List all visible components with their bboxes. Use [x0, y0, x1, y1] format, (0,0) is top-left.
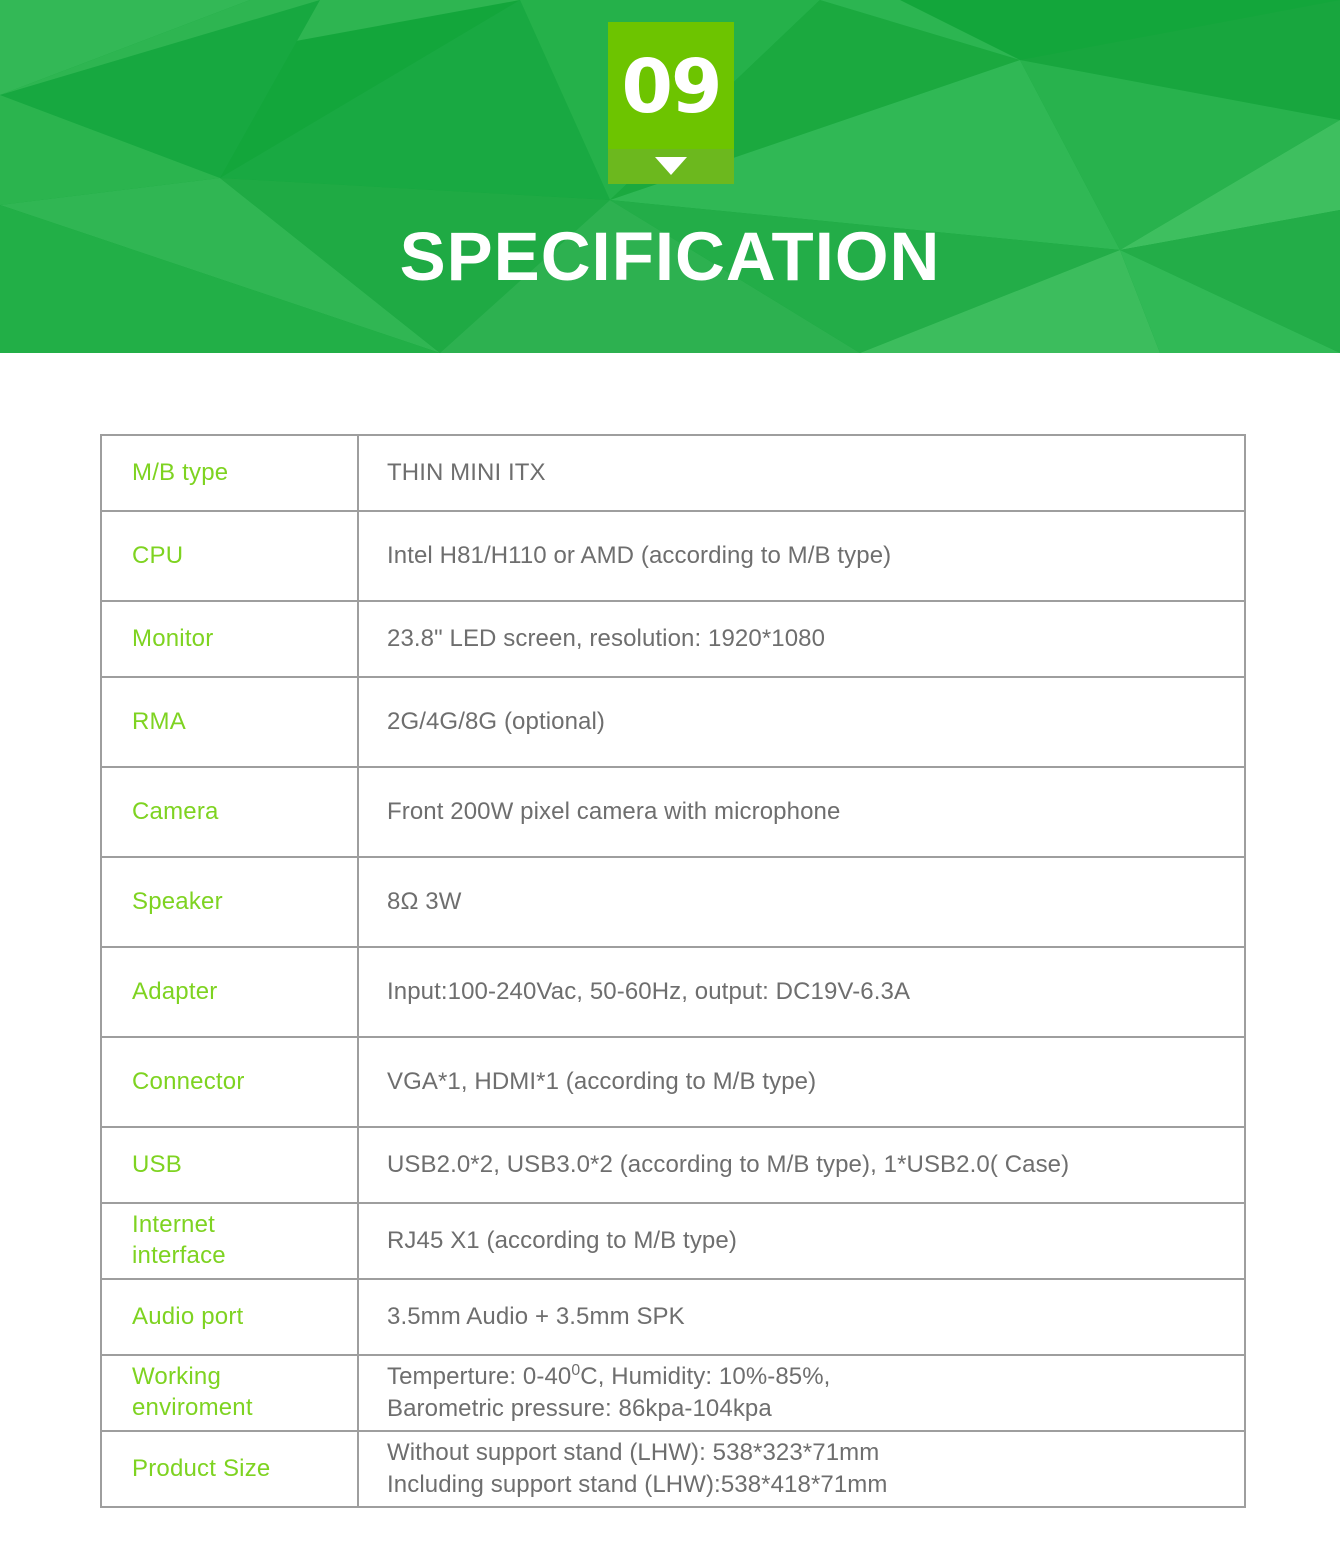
value-line: Input:100-240Vac, 50-60Hz, output: DC19V… [387, 976, 1234, 1008]
table-row: Internet interface RJ45 X1 (according to… [101, 1203, 1245, 1279]
table-row: RMA 2G/4G/8G (optional) [101, 677, 1245, 767]
spec-label-speaker: Speaker [101, 857, 358, 947]
spec-value-camera: Front 200W pixel camera with microphone [358, 767, 1245, 857]
spec-label-cpu: CPU [101, 511, 358, 601]
spec-label-working-enviroment: Working enviroment [101, 1355, 358, 1431]
value-line: Without support stand (LHW): 538*323*71m… [387, 1437, 1234, 1469]
value-line: Intel H81/H110 or AMD (according to M/B … [387, 540, 1234, 572]
page-title: SPECIFICATION [0, 222, 1340, 291]
table-row: Monitor 23.8" LED screen, resolution: 19… [101, 601, 1245, 677]
value-line: VGA*1, HDMI*1 (according to M/B type) [387, 1066, 1234, 1098]
spec-value-mb-type: THIN MINI ITX [358, 435, 1245, 511]
table-row: Audio port 3.5mm Audio + 3.5mm SPK [101, 1279, 1245, 1355]
spec-value-working-enviroment: Temperture: 0-400C, Humidity: 10%-85%, B… [358, 1355, 1245, 1431]
spec-label-connector: Connector [101, 1037, 358, 1127]
section-number-badge: 09 [608, 22, 734, 184]
table-row: CPU Intel H81/H110 or AMD (according to … [101, 511, 1245, 601]
triangle-down-icon [655, 157, 687, 175]
value-line: Front 200W pixel camera with microphone [387, 796, 1234, 828]
value-line: Barometric pressure: 86kpa-104kpa [387, 1393, 1234, 1425]
badge-arrow-block [608, 149, 734, 184]
badge-number-block: 09 [608, 22, 734, 149]
value-line: 3.5mm Audio + 3.5mm SPK [387, 1301, 1234, 1333]
value-line: 2G/4G/8G (optional) [387, 706, 1234, 738]
spec-label-audio-port: Audio port [101, 1279, 358, 1355]
spec-value-speaker: 8Ω 3W [358, 857, 1245, 947]
spec-value-rma: 2G/4G/8G (optional) [358, 677, 1245, 767]
specification-table-body: M/B type THIN MINI ITX CPU Intel H81/H11… [101, 435, 1245, 1507]
spec-label-monitor: Monitor [101, 601, 358, 677]
spec-value-product-size: Without support stand (LHW): 538*323*71m… [358, 1431, 1245, 1507]
spec-value-connector: VGA*1, HDMI*1 (according to M/B type) [358, 1037, 1245, 1127]
spec-label-rma: RMA [101, 677, 358, 767]
label-line: interface [132, 1241, 357, 1272]
value-line-temperature: Temperture: 0-400C, Humidity: 10%-85%, [387, 1361, 1234, 1393]
section-number: 09 [622, 50, 721, 124]
degree-superscript: 0 [571, 1362, 580, 1379]
spec-label-mb-type: M/B type [101, 435, 358, 511]
table-row: Working enviroment Temperture: 0-400C, H… [101, 1355, 1245, 1431]
value-line: RJ45 X1 (according to M/B type) [387, 1225, 1234, 1257]
value-line: 23.8" LED screen, resolution: 1920*1080 [387, 623, 1234, 655]
spec-value-usb: USB2.0*2, USB3.0*2 (according to M/B typ… [358, 1127, 1245, 1203]
spec-label-internet-interface: Internet interface [101, 1203, 358, 1279]
spec-label-usb: USB [101, 1127, 358, 1203]
spec-value-audio-port: 3.5mm Audio + 3.5mm SPK [358, 1279, 1245, 1355]
table-row: M/B type THIN MINI ITX [101, 435, 1245, 511]
label-line: Internet [132, 1210, 357, 1241]
spec-value-cpu: Intel H81/H110 or AMD (according to M/B … [358, 511, 1245, 601]
value-line: THIN MINI ITX [387, 457, 1234, 489]
specification-table: M/B type THIN MINI ITX CPU Intel H81/H11… [100, 434, 1246, 1508]
table-row: USB USB2.0*2, USB3.0*2 (according to M/B… [101, 1127, 1245, 1203]
specification-table-wrapper: M/B type THIN MINI ITX CPU Intel H81/H11… [100, 434, 1246, 1508]
table-row: Speaker 8Ω 3W [101, 857, 1245, 947]
spec-value-adapter: Input:100-240Vac, 50-60Hz, output: DC19V… [358, 947, 1245, 1037]
value-line: 8Ω 3W [387, 886, 1234, 918]
label-line: Working [132, 1362, 357, 1393]
value-line: USB2.0*2, USB3.0*2 (according to M/B typ… [387, 1149, 1234, 1181]
value-line: Including support stand (LHW):538*418*71… [387, 1469, 1234, 1501]
table-row: Product Size Without support stand (LHW)… [101, 1431, 1245, 1507]
spec-banner: 09 SPECIFICATION [0, 0, 1340, 353]
spec-label-product-size: Product Size [101, 1431, 358, 1507]
spec-label-adapter: Adapter [101, 947, 358, 1037]
label-line: enviroment [132, 1393, 357, 1424]
spec-value-monitor: 23.8" LED screen, resolution: 1920*1080 [358, 601, 1245, 677]
table-row: Connector VGA*1, HDMI*1 (according to M/… [101, 1037, 1245, 1127]
spec-value-internet-interface: RJ45 X1 (according to M/B type) [358, 1203, 1245, 1279]
table-row: Camera Front 200W pixel camera with micr… [101, 767, 1245, 857]
table-row: Adapter Input:100-240Vac, 50-60Hz, outpu… [101, 947, 1245, 1037]
spec-label-camera: Camera [101, 767, 358, 857]
